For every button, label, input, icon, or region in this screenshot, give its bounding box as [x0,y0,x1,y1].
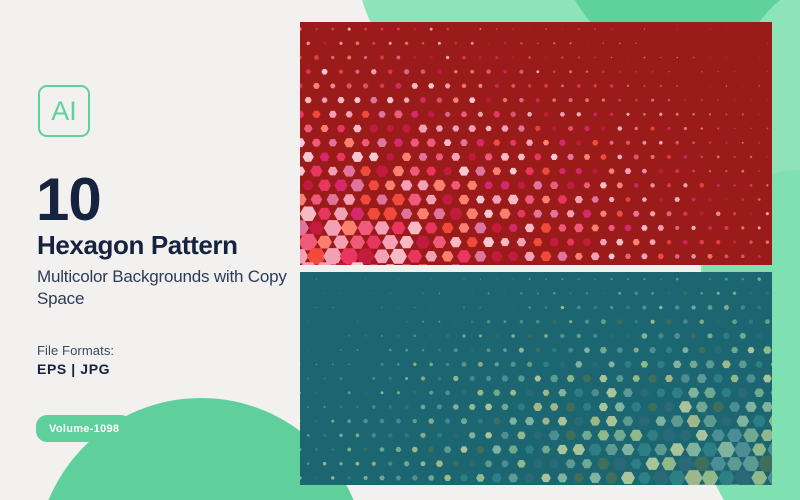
volume-badge-label: Volume-1098 [49,423,119,435]
item-count: 10 [36,170,101,230]
info-column: AI 10 Hexagon Pattern Multicolor Backgro… [0,0,300,500]
red-hexagon-panel [300,22,772,265]
teal-hexagon-panel [300,272,772,485]
adobe-illustrator-badge-icon: AI [38,85,90,137]
teal-hexagon-pattern [300,272,772,485]
red-hexagon-pattern [300,22,772,265]
page-subtitle: Multicolor Backgrounds with Copy Space [37,266,287,311]
file-formats-label: File Formats: [37,343,114,358]
file-formats-value: EPS | JPG [37,361,110,377]
page-title: Hexagon Pattern [37,232,238,259]
ai-badge-label: AI [51,98,77,125]
volume-badge: Volume-1098 [36,415,132,442]
poster-canvas: AI 10 Hexagon Pattern Multicolor Backgro… [0,0,800,500]
